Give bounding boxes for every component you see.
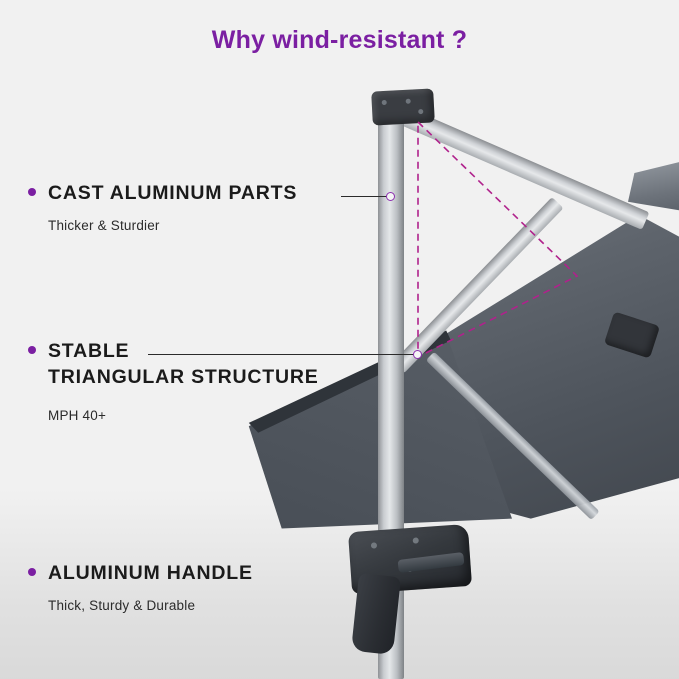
aluminum-handle-grip: [351, 573, 401, 655]
bullet-icon: [28, 346, 36, 354]
page-title: Why wind-resistant ?: [0, 26, 679, 55]
callout-subtitle-aluminum-handle: Thick, Sturdy & Durable: [48, 598, 253, 613]
bolt-icon: [413, 537, 419, 543]
bolt-icon: [418, 109, 423, 114]
bullet-icon: [28, 188, 36, 196]
callout-cast-aluminum-parts: CAST ALUMINUM PARTS Thicker & Sturdier: [28, 180, 297, 233]
product-infographic: CAST ALUMINUM PARTS Thicker & Sturdier S…: [0, 0, 679, 679]
callout-subtitle-stable-triangular-structure: MPH 40+: [48, 408, 319, 423]
callout-title-cast-aluminum-parts: CAST ALUMINUM PARTS: [48, 180, 297, 206]
upper-support-arm: [394, 105, 649, 230]
cast-aluminum-top-joint: [371, 88, 435, 125]
callout-title-stable-triangular-structure: STABLE TRIANGULAR STRUCTURE: [48, 338, 319, 390]
bolt-icon: [382, 100, 387, 105]
leader-endpoint-triangular: [413, 350, 422, 359]
leader-line-cast-aluminum: [341, 196, 389, 197]
callout-stable-triangular-structure: STABLE TRIANGULAR STRUCTURE MPH 40+: [28, 338, 319, 423]
callout-aluminum-handle: ALUMINUM HANDLE Thick, Sturdy & Durable: [28, 560, 253, 613]
bullet-icon: [28, 568, 36, 576]
leader-endpoint-cast-aluminum: [386, 192, 395, 201]
bolt-icon: [406, 99, 411, 104]
bolt-icon: [371, 542, 377, 548]
callout-title-aluminum-handle: ALUMINUM HANDLE: [48, 560, 253, 586]
callout-subtitle-cast-aluminum-parts: Thicker & Sturdier: [48, 218, 297, 233]
